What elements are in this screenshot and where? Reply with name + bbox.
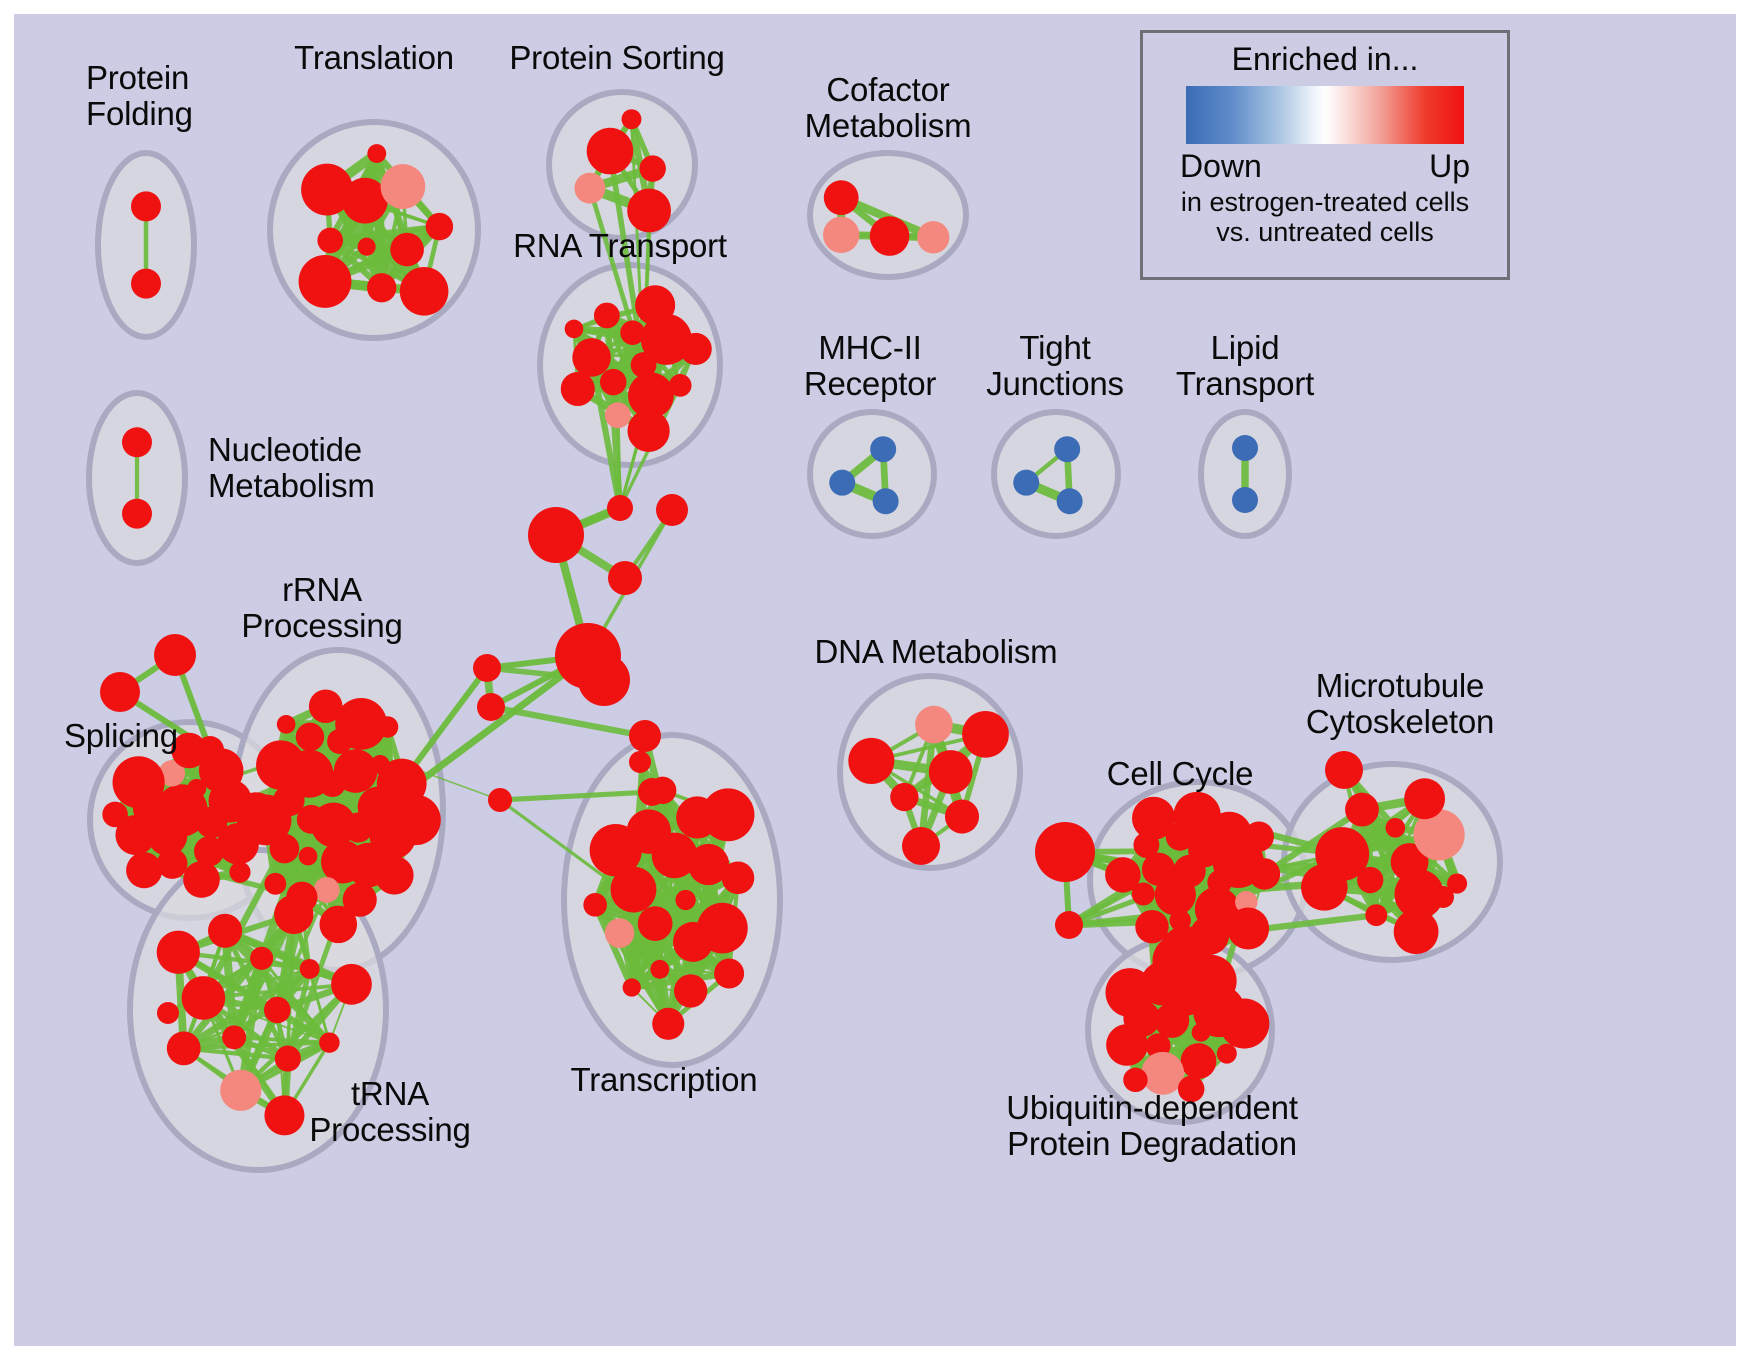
network-node xyxy=(390,233,424,267)
cluster-label-cofactor: CofactorMetabolism xyxy=(805,72,972,143)
network-node xyxy=(583,893,607,917)
network-node xyxy=(131,269,161,299)
network-node xyxy=(1106,1024,1148,1066)
network-node xyxy=(100,672,140,712)
network-node xyxy=(122,427,152,457)
network-node xyxy=(594,303,620,329)
network-node xyxy=(1404,778,1445,819)
cluster-label-dna-metabolism: DNA Metabolism xyxy=(815,634,1058,670)
network-node xyxy=(656,494,688,526)
network-node xyxy=(390,795,440,845)
network-node xyxy=(426,213,453,240)
cluster-ellipse xyxy=(810,412,934,536)
network-node xyxy=(1301,864,1348,911)
network-node xyxy=(122,499,152,529)
figure-canvas: ProteinFoldingTranslationProtein Sorting… xyxy=(0,0,1750,1360)
network-node xyxy=(870,216,910,256)
network-node xyxy=(400,267,449,316)
network-node xyxy=(220,1070,261,1111)
cluster-label-translation: Translation xyxy=(294,40,454,76)
network-node xyxy=(587,128,634,175)
network-node xyxy=(1365,904,1387,926)
network-node xyxy=(183,861,220,898)
cluster-label-nucleotide: NucleotideMetabolism xyxy=(208,432,375,503)
network-node xyxy=(274,895,313,934)
network-node xyxy=(945,800,979,834)
network-node xyxy=(309,689,343,723)
network-node xyxy=(1394,909,1439,954)
network-node xyxy=(113,756,165,808)
network-node xyxy=(623,978,641,996)
cluster-label-rrna-processing: rRNAProcessing xyxy=(241,572,402,643)
network-node xyxy=(635,285,675,325)
network-node xyxy=(675,890,695,910)
network-node xyxy=(702,788,755,841)
network-node xyxy=(277,715,296,734)
network-node xyxy=(639,155,665,181)
network-node xyxy=(264,997,291,1024)
network-node xyxy=(629,751,651,773)
network-node xyxy=(250,947,273,970)
network-node xyxy=(1054,436,1080,462)
network-node xyxy=(638,778,666,806)
network-node xyxy=(722,862,755,895)
network-node xyxy=(314,877,340,903)
network-node xyxy=(1219,999,1269,1049)
legend-box: Enriched in... Down Up in estrogen-treat… xyxy=(1140,30,1510,280)
cluster-label-protein-folding: ProteinFolding xyxy=(86,60,193,131)
network-node xyxy=(714,958,744,988)
network-node xyxy=(296,723,324,751)
network-node xyxy=(126,852,162,888)
cluster-label-mhc-ii: MHC-IIReceptor xyxy=(804,330,936,401)
network-node xyxy=(629,720,661,752)
network-node xyxy=(256,740,305,789)
cluster-label-splicing: Splicing xyxy=(64,718,178,754)
network-node xyxy=(590,824,642,876)
network-node xyxy=(331,964,372,1005)
network-node xyxy=(317,228,343,254)
cluster-label-tight-junctions: TightJunctions xyxy=(986,330,1124,401)
network-node xyxy=(300,959,320,979)
network-node xyxy=(848,738,894,784)
network-node xyxy=(605,402,631,428)
legend-caption-line2: vs. untreated cells xyxy=(1181,217,1469,247)
network-node xyxy=(608,561,642,595)
legend-endpoints: Down Up xyxy=(1180,148,1470,185)
network-node xyxy=(222,1025,246,1049)
cluster-label-cell-cycle: Cell Cycle xyxy=(1107,756,1254,792)
network-node xyxy=(627,410,669,452)
cluster-label-microtubule: MicrotubuleCytoskeleton xyxy=(1306,668,1494,739)
network-node xyxy=(1105,857,1140,892)
network-node xyxy=(1174,792,1221,839)
network-node xyxy=(1232,435,1258,461)
network-node xyxy=(1325,751,1363,789)
network-node xyxy=(154,634,196,676)
network-node xyxy=(1249,858,1281,890)
network-node xyxy=(669,374,692,397)
network-node xyxy=(1013,470,1039,496)
network-node xyxy=(131,191,161,221)
network-node xyxy=(1181,1043,1217,1079)
legend-up-label: Up xyxy=(1429,148,1470,185)
network-node xyxy=(697,903,748,954)
network-node xyxy=(358,238,376,256)
network-node xyxy=(578,654,630,706)
cluster-label-protein-sorting: Protein Sorting xyxy=(509,40,724,76)
network-node xyxy=(157,1002,179,1024)
network-node xyxy=(572,338,611,377)
network-node xyxy=(650,960,669,979)
network-node xyxy=(823,217,859,253)
network-node xyxy=(319,1032,339,1052)
network-node xyxy=(528,507,584,563)
legend-caption-line1: in estrogen-treated cells xyxy=(1181,187,1469,217)
network-node xyxy=(1217,1044,1237,1064)
cluster-label-ubiquitin: Ubiquitin-dependentProtein Degradation xyxy=(1006,1090,1298,1161)
network-node xyxy=(1152,934,1205,987)
network-node xyxy=(929,750,973,794)
network-node xyxy=(301,164,353,216)
network-node xyxy=(1385,818,1405,838)
legend-colorbar xyxy=(1186,86,1464,144)
network-node xyxy=(367,144,386,163)
network-node xyxy=(381,164,426,209)
network-node xyxy=(299,255,352,308)
legend-caption: in estrogen-treated cells vs. untreated … xyxy=(1181,187,1469,247)
network-node xyxy=(182,976,226,1020)
network-node xyxy=(477,693,505,721)
network-node xyxy=(915,706,953,744)
network-node xyxy=(674,974,707,1007)
network-node xyxy=(241,795,292,846)
network-node xyxy=(1227,908,1269,950)
network-node xyxy=(873,488,899,514)
network-node xyxy=(824,180,859,215)
cluster-label-transcription: Transcription xyxy=(571,1062,758,1098)
network-node xyxy=(962,711,1009,758)
network-node xyxy=(638,906,673,941)
network-node xyxy=(1232,487,1258,513)
network-node xyxy=(275,1046,301,1072)
network-node xyxy=(375,856,414,895)
network-node xyxy=(367,273,396,302)
network-node xyxy=(208,914,242,948)
network-node xyxy=(1244,821,1274,851)
network-node xyxy=(229,862,250,883)
network-node xyxy=(1432,886,1454,908)
network-node xyxy=(1057,488,1083,514)
network-node xyxy=(870,436,896,462)
network-node xyxy=(622,109,642,129)
network-node xyxy=(334,749,378,793)
network-node xyxy=(157,931,200,974)
legend-down-label: Down xyxy=(1180,148,1262,185)
network-node xyxy=(264,1095,304,1135)
network-node xyxy=(652,1008,684,1040)
network-node xyxy=(102,802,128,828)
network-node xyxy=(600,369,627,396)
network-node xyxy=(320,906,358,944)
cluster-ellipse xyxy=(994,412,1118,536)
network-node xyxy=(264,873,286,895)
network-node xyxy=(917,221,949,253)
network-node xyxy=(902,827,940,865)
network-node xyxy=(561,372,595,406)
cluster-label-rna-transport: RNA Transport xyxy=(513,228,727,264)
network-node xyxy=(605,918,635,948)
network-node xyxy=(890,783,918,811)
network-node xyxy=(196,736,224,764)
network-node xyxy=(680,333,712,365)
network-node xyxy=(607,495,633,521)
cluster-label-lipid-transport: LipidTransport xyxy=(1176,330,1314,401)
network-node xyxy=(627,189,671,233)
network-node xyxy=(1132,797,1175,840)
network-node xyxy=(1035,822,1095,882)
network-node xyxy=(565,320,584,339)
legend-title: Enriched in... xyxy=(1232,41,1419,78)
cluster-label-trna-processing: tRNAProcessing xyxy=(309,1076,470,1147)
network-node xyxy=(473,654,501,682)
network-node xyxy=(488,788,512,812)
network-node xyxy=(574,173,605,204)
network-node xyxy=(1105,968,1154,1017)
network-node xyxy=(829,470,855,496)
network-node xyxy=(1345,793,1379,827)
network-node xyxy=(1055,911,1083,939)
network-node xyxy=(299,847,318,866)
network-node xyxy=(377,716,399,738)
network-node xyxy=(167,1031,201,1065)
